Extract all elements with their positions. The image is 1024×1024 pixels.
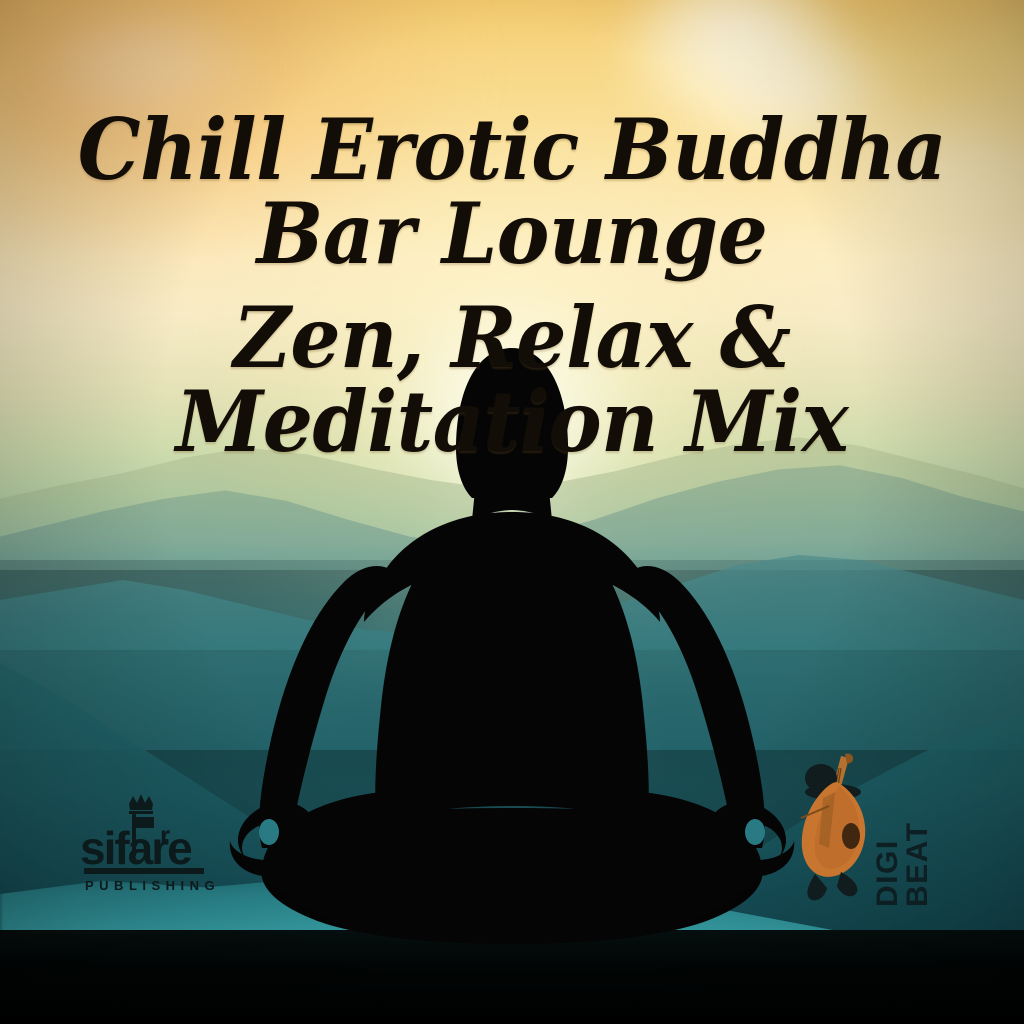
album-title: Chill Erotic Buddha Bar Lounge Zen, Rela…	[0, 108, 1024, 464]
crown-icon	[129, 794, 153, 814]
album-cover: Chill Erotic Buddha Bar Lounge Zen, Rela…	[0, 0, 1024, 1024]
publisher-wordmark: sifare	[80, 822, 192, 874]
left-mudra-hole	[259, 819, 279, 845]
imprint-wordmark: DIGI BEAT	[873, 756, 933, 907]
album-title-line-2: Zen, Relax & Meditation Mix	[31, 296, 994, 464]
logo-underline	[84, 868, 204, 874]
svg-text:r: r	[160, 820, 170, 850]
publisher-tagline: PUBLISHING	[85, 878, 220, 893]
publisher-logo: sifare r PUBLISHING	[72, 786, 224, 898]
right-mudra-hole	[745, 819, 765, 845]
album-title-line-1: Chill Erotic Buddha Bar Lounge	[31, 108, 994, 276]
imprint-logo: DIGI BEAT	[795, 752, 935, 907]
